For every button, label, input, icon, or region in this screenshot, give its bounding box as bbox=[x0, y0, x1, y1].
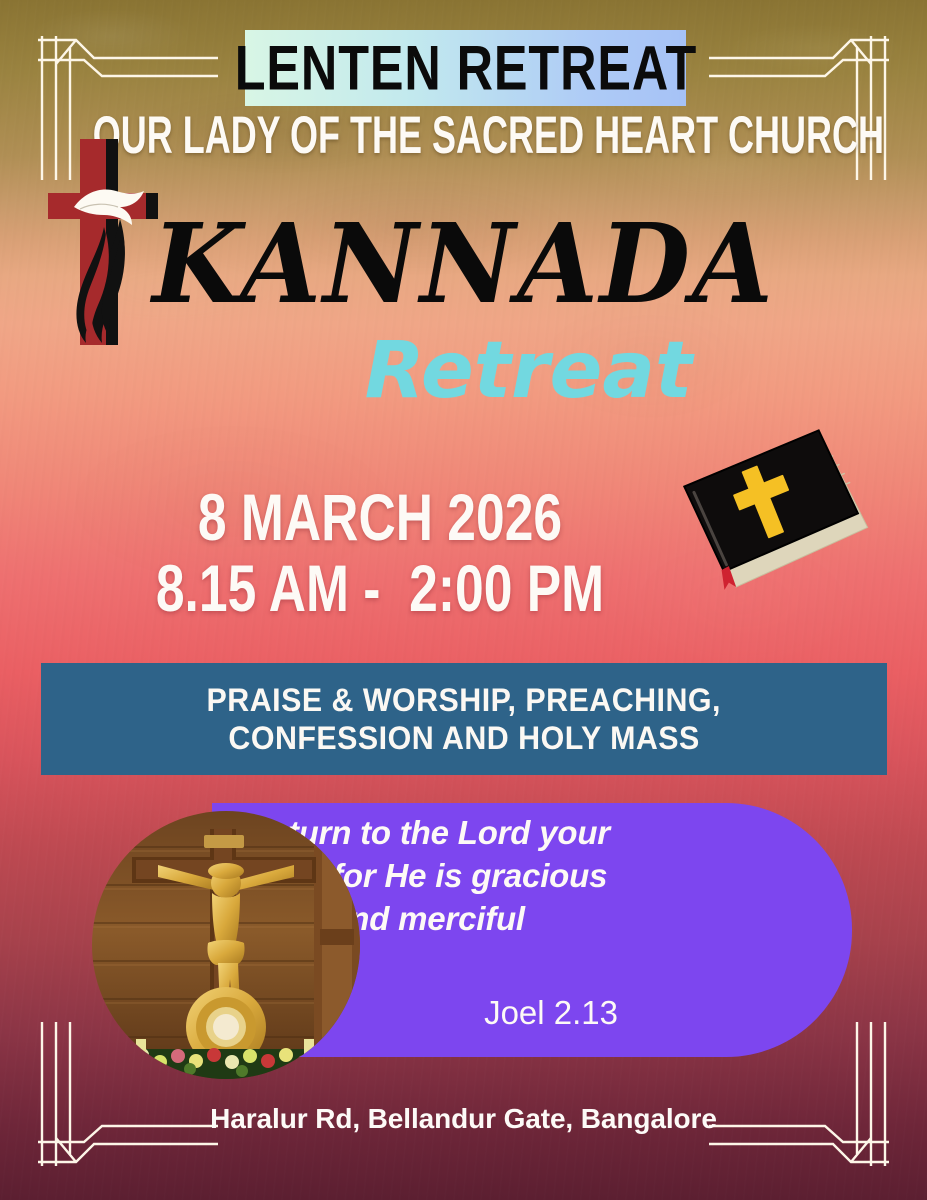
program-line-2: CONFESSION AND HOLY MASS bbox=[228, 720, 699, 756]
event-time: 8.15 AM - 2:00 PM bbox=[139, 550, 621, 628]
lenten-retreat-poster: LENTEN RETREAT OUR LADY OF THE SACRED HE… bbox=[0, 0, 927, 1200]
event-datetime: 8 MARCH 2026 8.15 AM - 2:00 PM bbox=[100, 483, 660, 625]
church-name: OUR LADY OF THE SACRED HEART CHURCH bbox=[93, 108, 835, 161]
kannada-wordmark: KANNADA bbox=[0, 209, 927, 318]
venue-address: Haralur Rd, Bellandur Gate, Bangalore bbox=[0, 1103, 927, 1135]
program-banner: PRAISE & WORSHIP, PREACHING, CONFESSION … bbox=[41, 663, 887, 775]
holy-bible-icon bbox=[668, 428, 896, 618]
retreat-script-wordmark: Retreat bbox=[0, 332, 927, 410]
lenten-retreat-title: LENTEN RETREAT bbox=[234, 37, 696, 100]
lenten-retreat-banner: LENTEN RETREAT bbox=[245, 30, 686, 106]
event-date: 8 MARCH 2026 bbox=[139, 479, 621, 557]
program-line-1: PRAISE & WORSHIP, PREACHING, bbox=[207, 682, 721, 718]
crucifix-photo bbox=[92, 811, 360, 1079]
